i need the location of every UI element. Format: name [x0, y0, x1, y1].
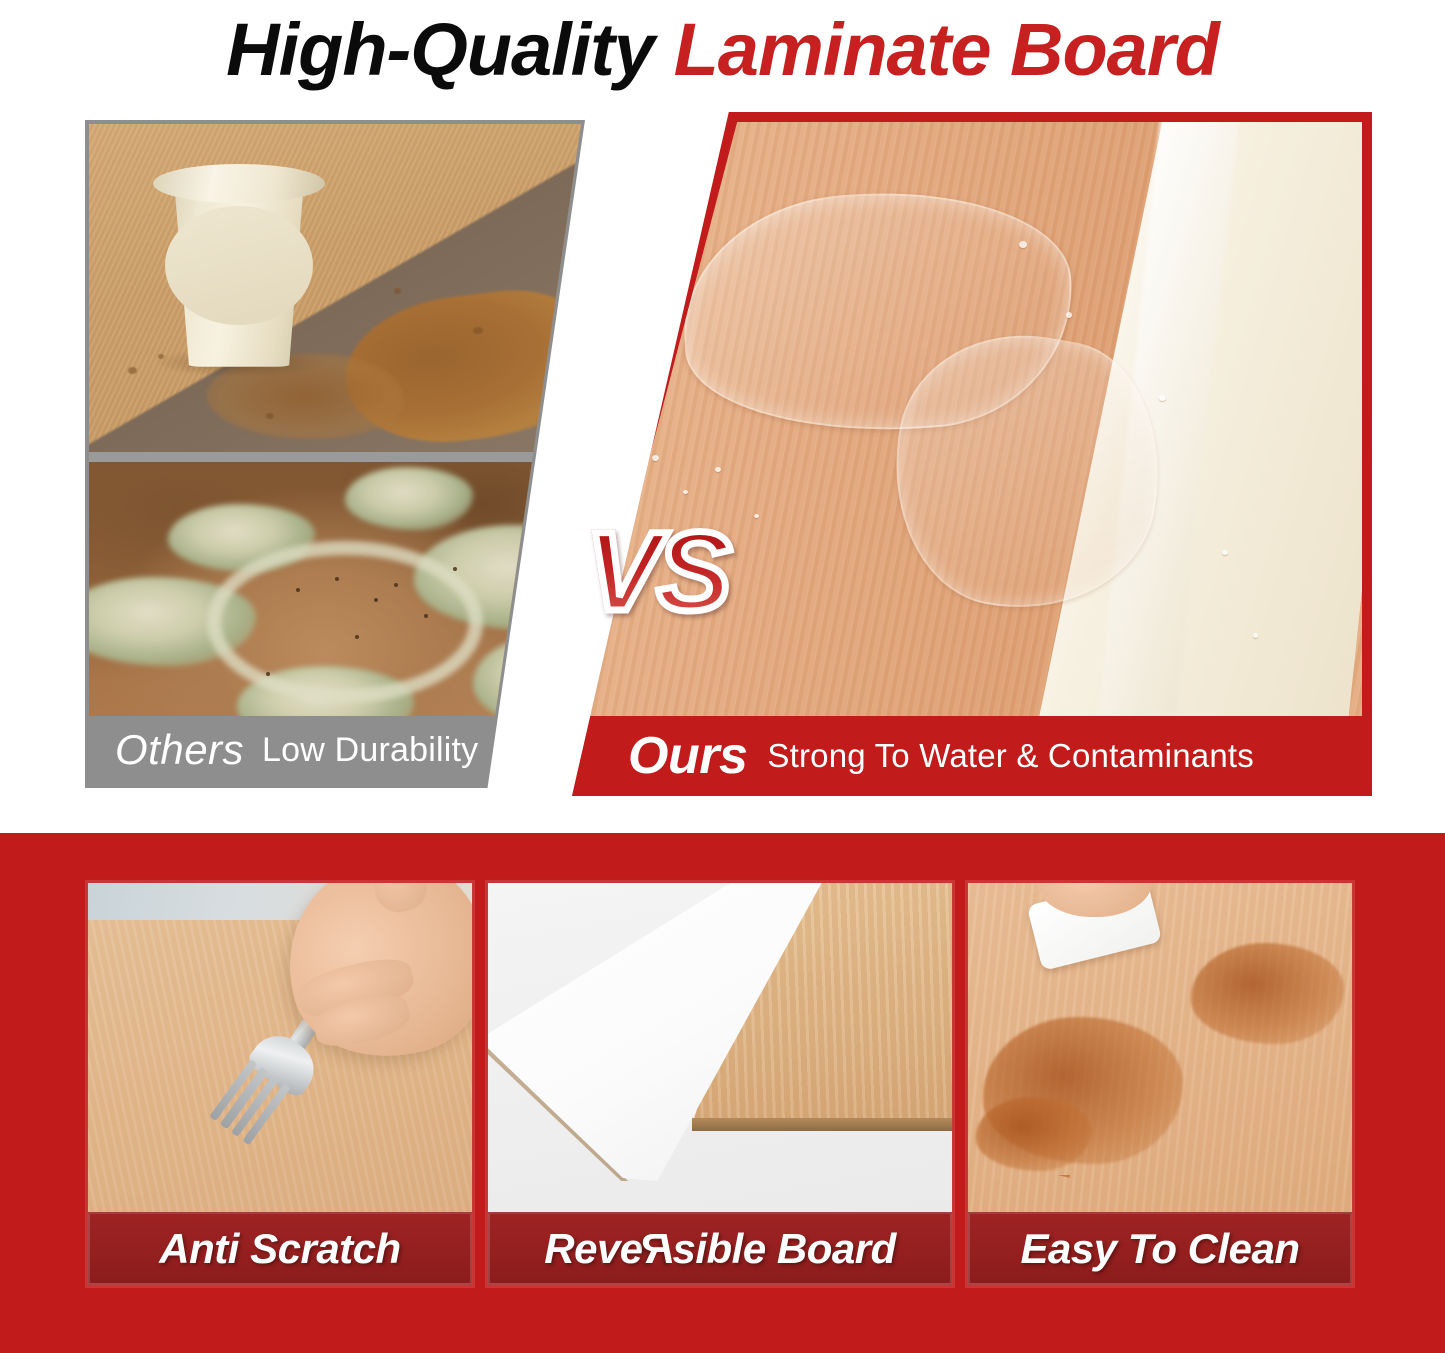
feature-caption-easy-to-clean: Easy To Clean [968, 1212, 1352, 1285]
droplet [266, 413, 274, 419]
photo-fork-scratch-test [88, 883, 472, 1218]
mold-spot [453, 567, 457, 571]
photo-wipe-stain-clean [968, 883, 1352, 1218]
feature-caption-anti-scratch: Anti Scratch [88, 1212, 472, 1285]
feature-caption-text: Anti Scratch [159, 1225, 400, 1273]
others-panel: Others Low Durability [85, 120, 585, 788]
feature-caption-reversible-board: ReveRsible Board [488, 1212, 952, 1285]
mirrored-r-glyph: R [643, 1225, 673, 1273]
wood-board-edge [692, 1118, 952, 1131]
feature-card-anti-scratch: Anti Scratch [85, 880, 475, 1288]
ours-label-bar: Ours Strong To Water & Contaminants [572, 716, 1372, 796]
mold-spot [394, 583, 398, 587]
feature-card-easy-to-clean: Easy To Clean [965, 880, 1355, 1288]
photo-spilled-drink-on-mdf [89, 124, 581, 452]
water-bead [652, 455, 659, 461]
others-label-bar: Others Low Durability [89, 716, 581, 784]
mold-spot [424, 614, 428, 618]
water-bead [1066, 312, 1072, 318]
mold-spot [266, 672, 270, 676]
droplet [128, 367, 137, 374]
cup-rim-inner [165, 206, 313, 326]
others-panel-inner: Others Low Durability [89, 124, 581, 784]
feature-caption-text: Easy To Clean [1020, 1225, 1299, 1273]
mold-spot [296, 588, 300, 592]
ours-panel: Ours Strong To Water & Contaminants [572, 112, 1372, 796]
thumb [365, 883, 431, 918]
ours-title: Ours [628, 726, 747, 786]
sauce-stain [1191, 943, 1345, 1044]
features-section: Anti Scratch ReveRsible Board Easy To Cl… [0, 833, 1445, 1353]
caption-prefix: Reve [544, 1225, 642, 1272]
others-title: Others [115, 726, 244, 774]
page-title-part-red: Laminate Board [674, 8, 1219, 91]
comparison-section: Others Low Durability Ours Strong To Wat… [0, 104, 1445, 804]
mold-blob [345, 467, 473, 530]
page-title-part-dark: High-Quality [226, 8, 654, 91]
droplet [394, 288, 401, 294]
mold-spot [355, 635, 359, 639]
mold-ring [207, 541, 483, 703]
water-bead [715, 467, 721, 472]
paper-cup [153, 160, 325, 367]
photo-mold-growth-on-damp-board [89, 462, 581, 724]
ours-subtitle: Strong To Water & Contaminants [767, 737, 1254, 775]
water-bead [754, 514, 759, 518]
water-bead [1222, 550, 1228, 555]
water-bead [1019, 241, 1027, 248]
water-bead [1253, 633, 1258, 638]
caption-suffix: sible Board [673, 1225, 896, 1272]
feature-card-reversible-board: ReveRsible Board [485, 880, 955, 1288]
vs-badge: VS [586, 516, 727, 628]
page-title: High-Quality Laminate Board [0, 6, 1445, 94]
photo-reversible-board-white-and-wood [488, 883, 952, 1218]
feature-caption-text: ReveRsible Board [544, 1225, 895, 1273]
others-subtitle: Low Durability [262, 731, 478, 770]
